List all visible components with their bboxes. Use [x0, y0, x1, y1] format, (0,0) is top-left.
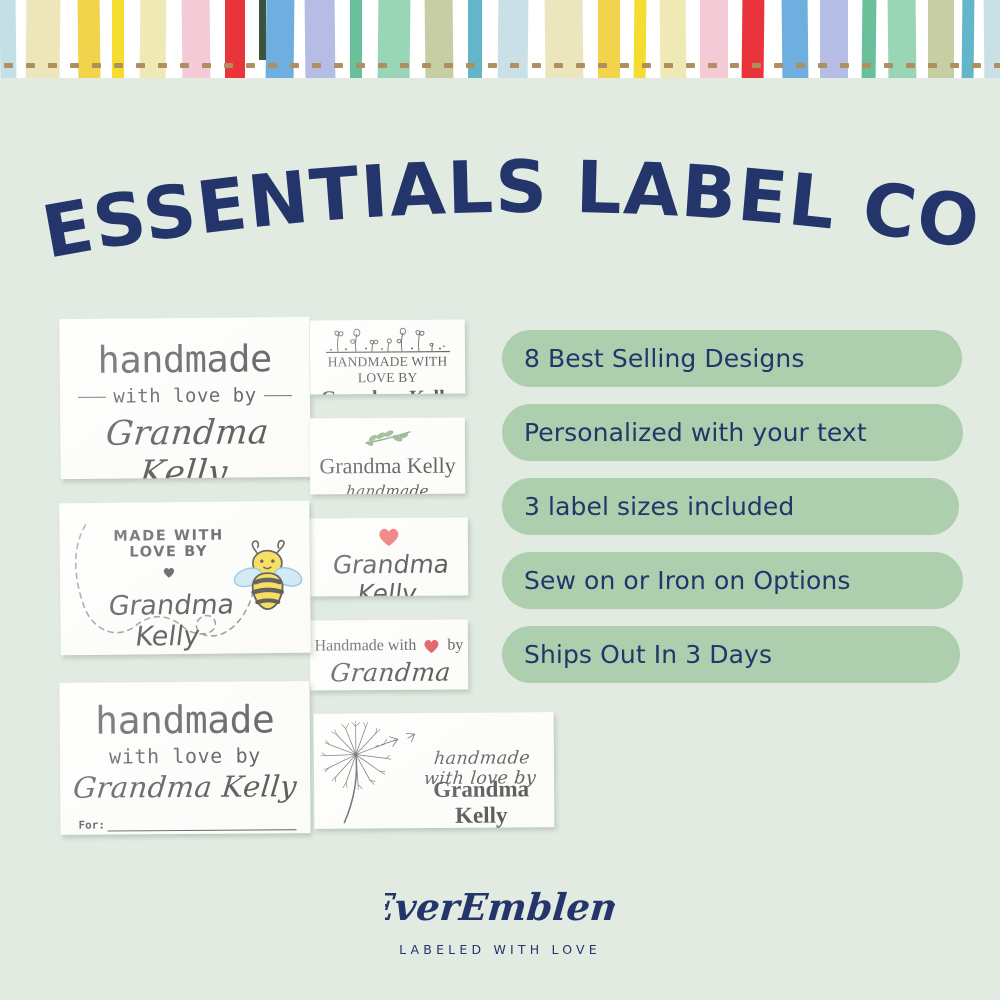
stitch-dash — [312, 63, 321, 68]
stitch-dash — [70, 63, 79, 68]
stitch-dash — [246, 63, 255, 68]
label5-name: Grandma Kelly — [310, 657, 468, 690]
stitch-dash — [180, 63, 189, 68]
label7-headline: handmade — [60, 697, 310, 743]
stitch-dash — [444, 63, 453, 68]
watercolor-stripe-banner — [0, 0, 1000, 78]
label4-name: Grandma Kelly — [310, 549, 469, 596]
feature-pill[interactable]: Personalized with your text — [502, 404, 963, 461]
stitch-dash — [400, 63, 409, 68]
label7-sub: with love by — [60, 743, 310, 769]
label1-headline: handmade — [59, 337, 309, 382]
label-card-handmade-typewriter-heart[interactable]: handmade with love by Grandma Kelly — [59, 317, 310, 479]
feature-pill[interactable]: Sew on or Iron on Options — [502, 552, 963, 609]
stitch-dash — [532, 63, 541, 68]
stitch-dash — [642, 63, 651, 68]
stitch-dash — [268, 63, 277, 68]
stitch-dash — [906, 63, 915, 68]
stitch-dash — [972, 63, 981, 68]
feature-label: 8 Best Selling Designs — [524, 344, 804, 373]
for-write-line[interactable] — [107, 829, 297, 831]
stitch-dash — [796, 63, 805, 68]
feature-label: Ships Out In 3 Days — [524, 640, 772, 669]
small-heart-icon — [162, 566, 176, 579]
stitch-dash — [92, 63, 101, 68]
stitch-dash — [730, 63, 739, 68]
stitch-dash — [708, 63, 717, 68]
stitch-dash — [48, 63, 57, 68]
label8-name: Grandma Kelly — [433, 776, 529, 828]
stitch-dash — [202, 63, 211, 68]
stitch-dash — [664, 63, 673, 68]
label-card-dandelion[interactable]: handmade with love by Grandma Kelly — [314, 712, 555, 829]
feature-pill[interactable]: 8 Best Selling Designs — [502, 330, 962, 387]
stitch-dash — [378, 63, 387, 68]
label1-sub: with love by — [113, 384, 256, 407]
feature-pill[interactable]: Ships Out In 3 Days — [502, 626, 960, 683]
brand-tagline: LABELED WITH LOVE — [0, 942, 1000, 957]
stitch-dash — [818, 63, 827, 68]
label7-for-field-label: For: — [78, 819, 105, 832]
stitch-dash — [488, 63, 497, 68]
dashed-stitch-line — [0, 63, 1000, 68]
stitch-dash — [950, 63, 959, 68]
label-card-botanical-caps[interactable]: HANDMADE WITH LOVE BY Grandma Kelly — [310, 319, 466, 394]
label6-sub: MADE WITH LOVE BY — [89, 527, 247, 561]
label5-suffix: by — [447, 636, 463, 654]
feature-label: Personalized with your text — [524, 418, 867, 447]
red-heart-icon — [376, 526, 402, 548]
brand-name: EverEmblem — [385, 885, 615, 929]
dash-right — [264, 395, 292, 396]
stitch-dash — [774, 63, 783, 68]
red-heart-icon — [422, 637, 441, 654]
stitch-dash — [840, 63, 849, 68]
feature-label: 3 label sizes included — [524, 492, 794, 521]
label-card-leaf-sprig[interactable]: Grandma Kelly handmade — [310, 418, 465, 495]
stitch-dash — [554, 63, 563, 68]
label5-prefix: Handmade with — [315, 637, 417, 656]
stitch-dash — [114, 63, 123, 68]
feature-label: Sew on or Iron on Options — [524, 566, 851, 595]
bumblebee-icon — [230, 539, 307, 614]
stitch-dash — [26, 63, 35, 68]
stitch-dash — [994, 63, 1000, 68]
label6-name: Grandma Kelly — [86, 589, 252, 653]
label3-name: Grandma Kelly — [310, 453, 465, 480]
stitch-dash — [752, 63, 761, 68]
green-leaf-sprig-icon — [359, 427, 415, 449]
stitch-dash — [576, 63, 585, 68]
feature-list: 8 Best Selling Designs Personalized with… — [502, 330, 964, 700]
stitch-dash — [884, 63, 893, 68]
stitch-dash — [422, 63, 431, 68]
brand-logo: EverEmblem LABELED WITH LOVE — [0, 884, 1000, 957]
label-card-red-heart-handmade[interactable]: Grandma Kelly HANDMADE — [310, 517, 469, 596]
wildflower-line-art-icon — [321, 325, 453, 354]
stitch-dash — [510, 63, 519, 68]
page-title-svg: ESSENTIALS LABEL COLLECTION — [0, 150, 1000, 270]
stitch-dash — [620, 63, 629, 68]
stitch-dash — [4, 63, 13, 68]
product-listing-image: ESSENTIALS LABEL COLLECTION 8 Best Selli… — [0, 0, 1000, 1000]
stitch-dash — [356, 63, 365, 68]
stitch-dash — [334, 63, 343, 68]
stitch-dash — [928, 63, 937, 68]
label2-sub: HANDMADE WITH LOVE BY — [310, 353, 465, 386]
label3-sub: handmade — [345, 482, 430, 495]
stitch-dash — [862, 63, 871, 68]
stitch-dash — [466, 63, 475, 68]
stitch-dash — [224, 63, 233, 68]
label1-name: Grandma Kelly — [59, 412, 310, 479]
label2-name: Grandma Kelly — [310, 386, 465, 394]
stitch-dash — [290, 63, 299, 68]
label-card-fill-in-for-date[interactable]: handmade with love by Grandma Kelly For:… — [59, 681, 310, 835]
brand-wordmark-svg: EverEmblem — [385, 884, 615, 932]
stitch-dash — [158, 63, 167, 68]
dash-left — [78, 396, 106, 397]
label7-name: Grandma Kelly — [72, 769, 299, 805]
label-card-handmade-with-heart-by[interactable]: Handmade with by Grandma Kelly — [310, 619, 468, 690]
feature-pill[interactable]: 3 label sizes included — [502, 478, 959, 535]
green-tab-marker — [259, 0, 266, 60]
stitch-dash — [686, 63, 695, 68]
stitch-dash — [598, 63, 607, 68]
stitch-dash — [136, 63, 145, 68]
page-title: ESSENTIALS LABEL COLLECTION — [0, 150, 1000, 270]
label-card-bee[interactable]: MADE WITH LOVE BY Grandma Kelly — [59, 501, 311, 656]
svg-text:ESSENTIALS LABEL COLLECTION: ESSENTIALS LABEL COLLECTION — [0, 150, 986, 270]
